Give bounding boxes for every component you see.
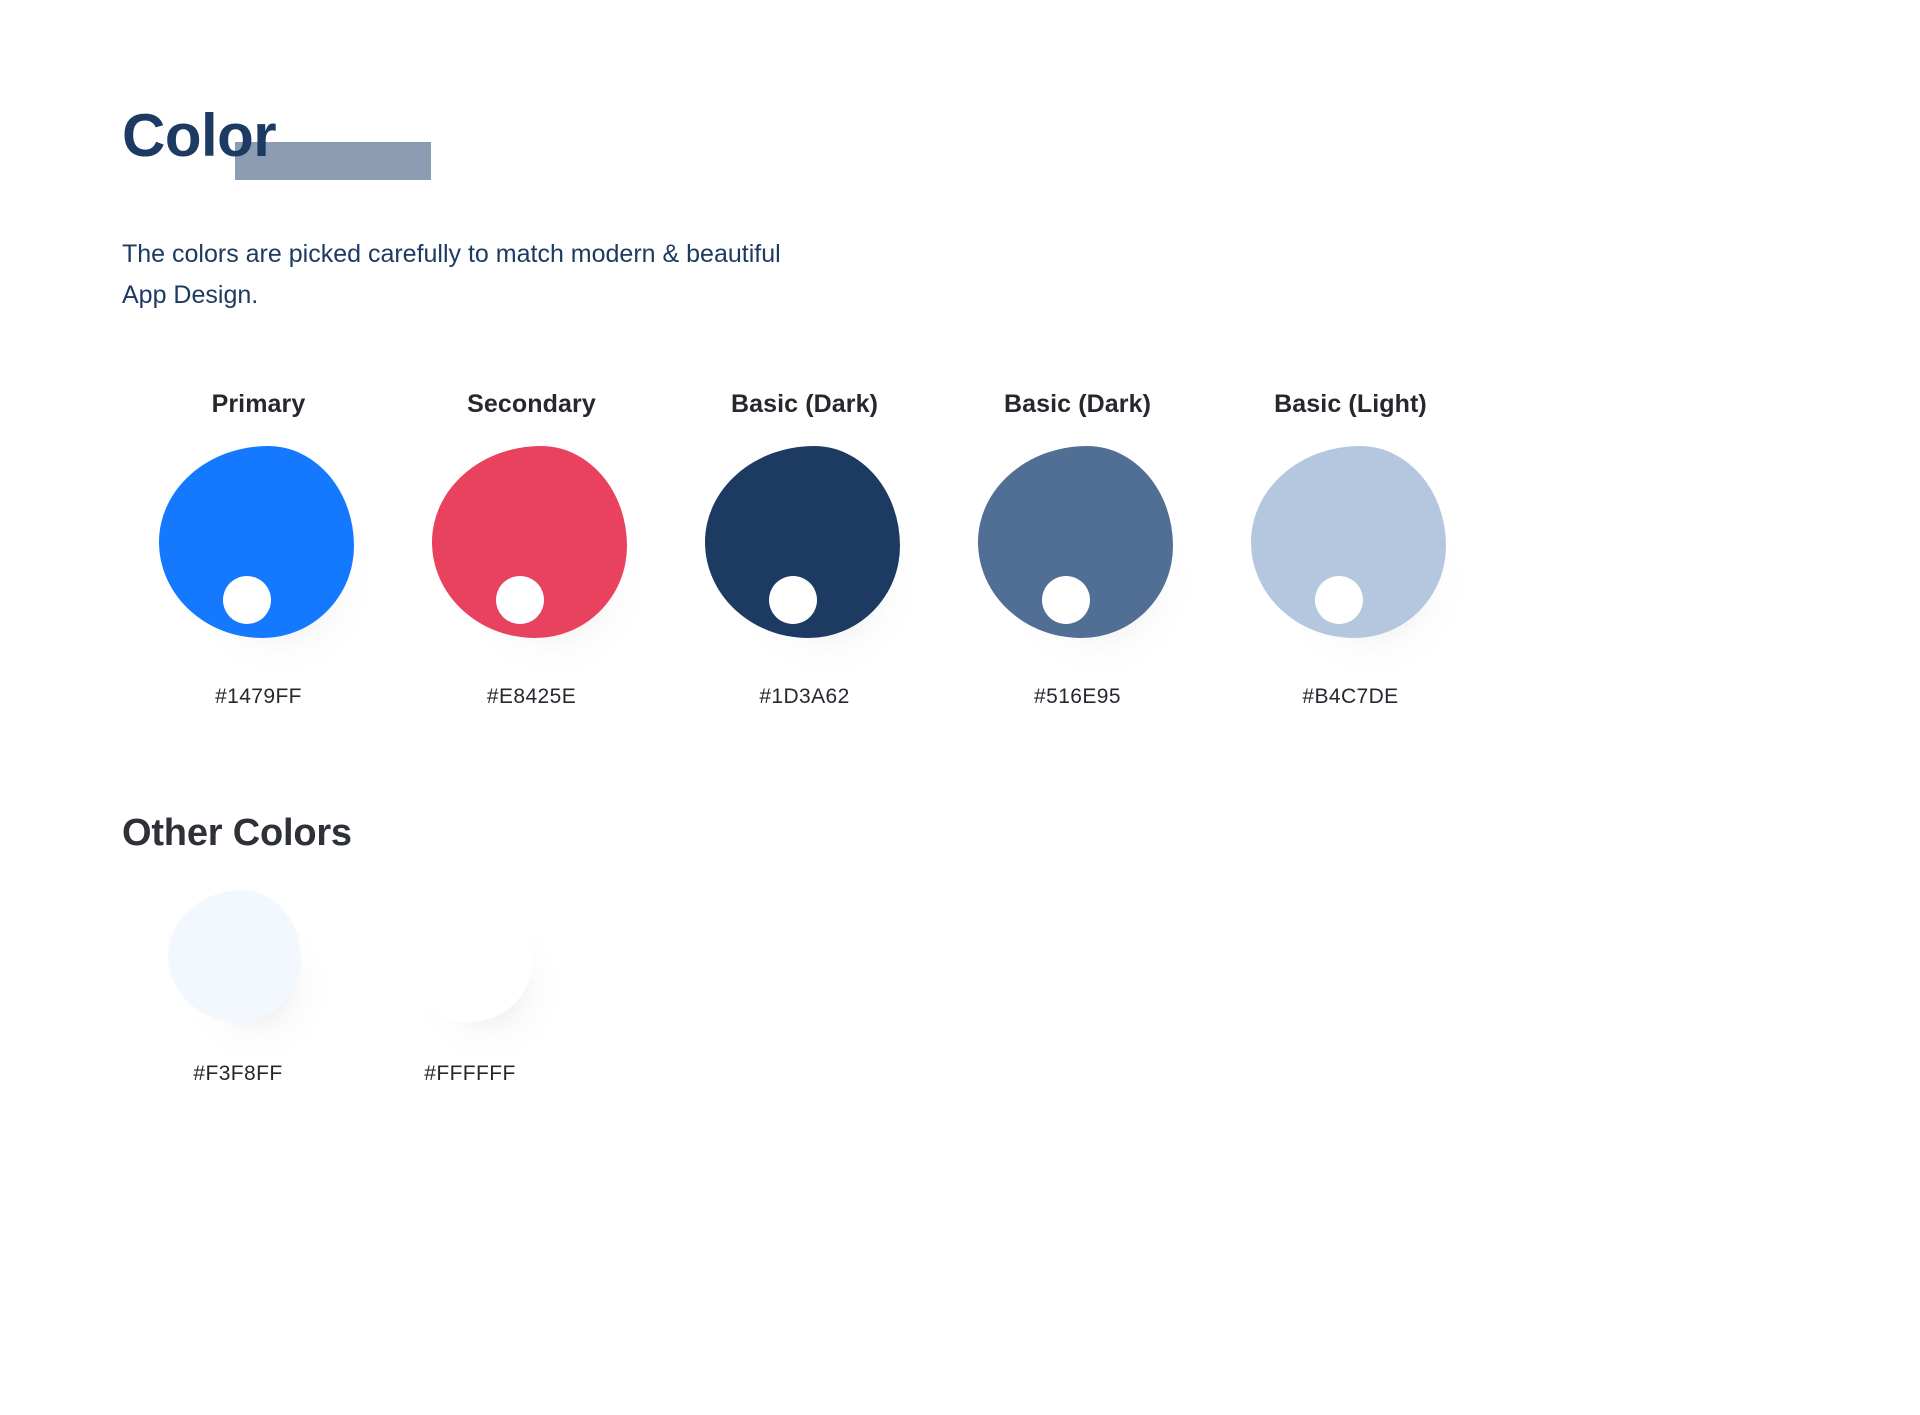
other-colors-heading: Other Colors xyxy=(122,812,352,855)
other-blob-area xyxy=(400,890,540,1035)
color-blob[interactable] xyxy=(400,890,533,1022)
blob-white-dot-icon xyxy=(1042,576,1090,624)
color-swatch-basic-dark-2[interactable]: Basic (Dark) #516E95 xyxy=(941,380,1214,709)
swatch-hex-value: #FFFFFF xyxy=(424,1062,515,1086)
swatch-blob-area xyxy=(705,446,905,661)
blob-white-dot-icon xyxy=(769,576,817,624)
palette-swatch-row: Primary #1479FF Secondary #E8425E Basic … xyxy=(122,380,1602,709)
page-header: Color xyxy=(122,96,1022,182)
page-description: The colors are picked carefully to match… xyxy=(122,234,802,316)
page-title-wrap: Color xyxy=(122,96,276,182)
blob-white-dot-icon xyxy=(496,576,544,624)
swatch-hex-value: #516E95 xyxy=(1034,685,1121,709)
color-blob[interactable] xyxy=(168,890,301,1022)
swatch-blob-area xyxy=(159,446,359,661)
swatch-label: Basic (Dark) xyxy=(731,380,878,428)
swatch-hex-value: #F3F8FF xyxy=(193,1062,282,1086)
other-color-swatch-ffffff[interactable]: #FFFFFF xyxy=(354,890,586,1086)
color-swatch-secondary[interactable]: Secondary #E8425E xyxy=(395,380,668,709)
swatch-label: Primary xyxy=(212,380,306,428)
color-swatch-basic-light[interactable]: Basic (Light) #B4C7DE xyxy=(1214,380,1487,709)
other-color-swatch-f3f8ff[interactable]: #F3F8FF xyxy=(122,890,354,1086)
swatch-label: Secondary xyxy=(467,380,596,428)
swatch-hex-value: #B4C7DE xyxy=(1302,685,1398,709)
swatch-hex-value: #1D3A62 xyxy=(759,685,849,709)
page-title: Color xyxy=(122,96,276,176)
swatch-hex-value: #E8425E xyxy=(487,685,576,709)
other-blob-area xyxy=(168,890,308,1035)
swatch-hex-value: #1479FF xyxy=(215,685,302,709)
swatch-blob-area xyxy=(432,446,632,661)
color-style-guide-page: { "header": { "title": "Color", "highlig… xyxy=(0,0,1920,1415)
swatch-label: Basic (Dark) xyxy=(1004,380,1151,428)
blob-white-dot-icon xyxy=(223,576,271,624)
other-colors-row: #F3F8FF #FFFFFF xyxy=(122,890,586,1086)
swatch-label: Basic (Light) xyxy=(1274,380,1427,428)
color-swatch-primary[interactable]: Primary #1479FF xyxy=(122,380,395,709)
blob-white-dot-icon xyxy=(1315,576,1363,624)
swatch-blob-area xyxy=(1251,446,1451,661)
color-swatch-basic-dark-1[interactable]: Basic (Dark) #1D3A62 xyxy=(668,380,941,709)
swatch-blob-area xyxy=(978,446,1178,661)
